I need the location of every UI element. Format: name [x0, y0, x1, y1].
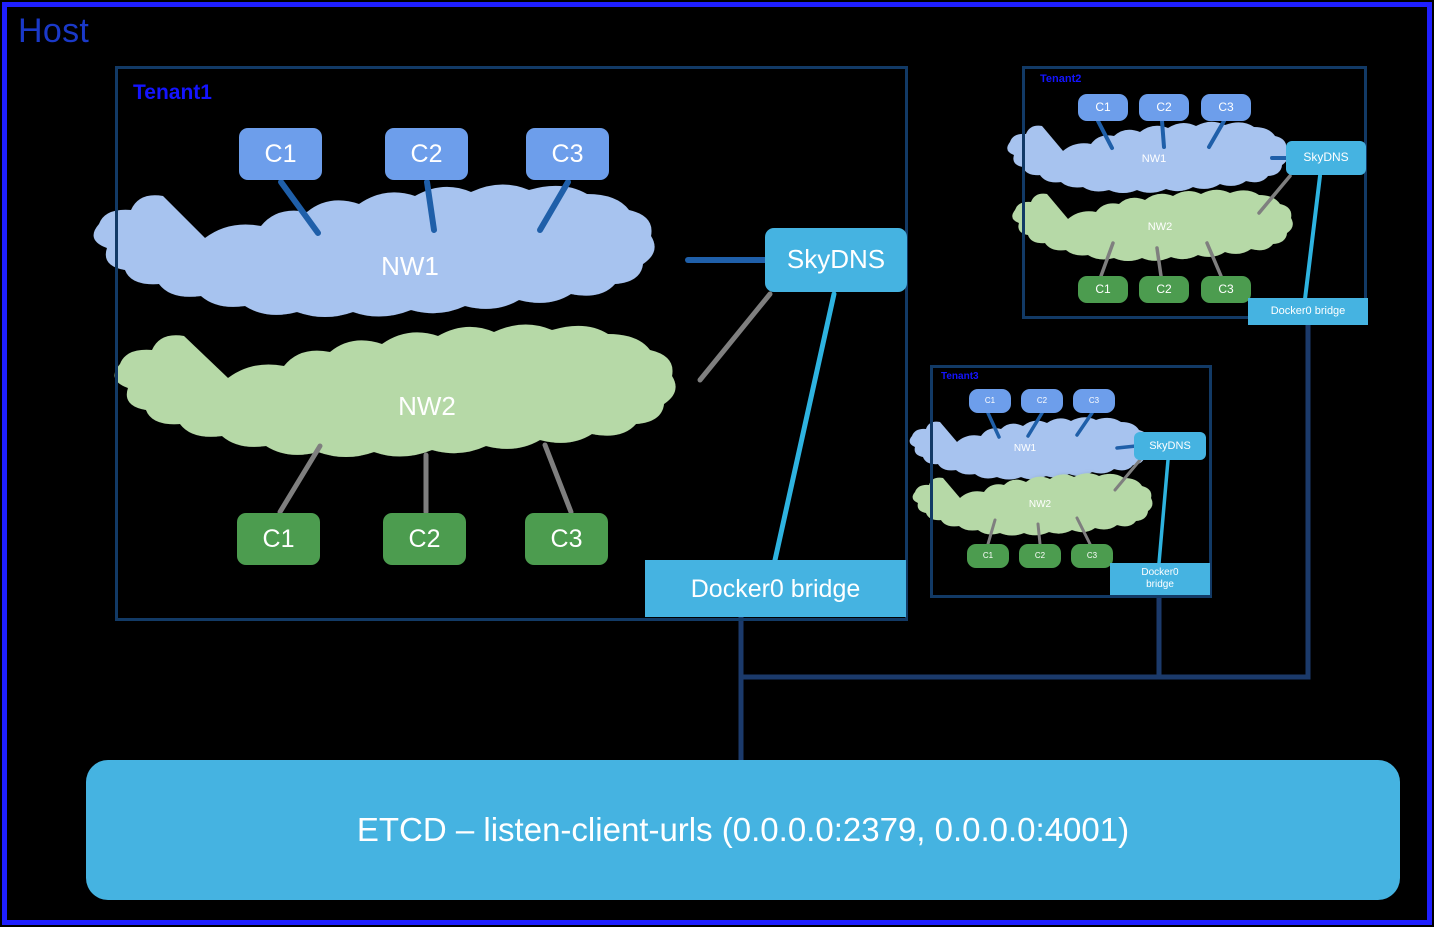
- tenant3-container-c3-top[interactable]: C3: [1073, 389, 1115, 413]
- tenant1-container-c1-bottom[interactable]: C1: [237, 513, 320, 565]
- tenant2-label: Tenant2: [1040, 73, 1081, 85]
- tenant3-docker0-line2: bridge: [1146, 579, 1174, 592]
- tenant3-docker0-line1: Docker0: [1141, 567, 1178, 580]
- tenant3-network-nw1-label: NW1: [1000, 443, 1050, 455]
- tenant3-container-c1-top[interactable]: C1: [969, 389, 1011, 413]
- tenant2-docker0-bridge[interactable]: Docker0 bridge: [1248, 298, 1368, 325]
- tenant2-network-nw1-label: NW1: [1124, 152, 1184, 166]
- tenant2-container-c3-top[interactable]: C3: [1201, 94, 1251, 121]
- tenant3-container-c3-bottom[interactable]: C3: [1071, 544, 1113, 568]
- tenant1-skydns-node[interactable]: SkyDNS: [765, 228, 907, 292]
- tenant1-container-c1-top[interactable]: C1: [239, 128, 322, 180]
- tenant2-container-c1-top[interactable]: C1: [1078, 94, 1128, 121]
- tenant3-label: Tenant3: [941, 371, 979, 382]
- tenant3-container-c1-bottom[interactable]: C1: [967, 544, 1009, 568]
- etcd-node[interactable]: ETCD – listen-client-urls (0.0.0.0:2379,…: [86, 760, 1400, 900]
- tenant2-frame[interactable]: [1022, 66, 1367, 319]
- tenant2-container-c1-bottom[interactable]: C1: [1078, 276, 1128, 303]
- tenant3-docker0-bridge[interactable]: Docker0 bridge: [1110, 563, 1210, 595]
- tenant1-network-nw1-label: NW1: [330, 252, 490, 282]
- tenant1-frame[interactable]: [115, 66, 908, 621]
- tenant1-docker0-bridge[interactable]: Docker0 bridge: [645, 560, 906, 617]
- tenant1-label: Tenant1: [133, 81, 212, 105]
- tenant2-container-c3-bottom[interactable]: C3: [1201, 276, 1251, 303]
- tenant2-container-c2-bottom[interactable]: C2: [1139, 276, 1189, 303]
- tenant3-skydns-node[interactable]: SkyDNS: [1134, 432, 1206, 460]
- tenant3-container-c2-bottom[interactable]: C2: [1019, 544, 1061, 568]
- diagram-canvas: Host Tenant1 C1 C2 C3 NW1 NW2 C1 C2 C3 S…: [0, 0, 1434, 927]
- tenant1-container-c2-bottom[interactable]: C2: [383, 513, 466, 565]
- tenant1-container-c2-top[interactable]: C2: [385, 128, 468, 180]
- tenant2-skydns-node[interactable]: SkyDNS: [1286, 141, 1366, 175]
- tenant1-container-c3-bottom[interactable]: C3: [525, 513, 608, 565]
- tenant1-container-c3-top[interactable]: C3: [526, 128, 609, 180]
- tenant3-network-nw2-label: NW2: [1015, 499, 1065, 511]
- tenant3-container-c2-top[interactable]: C2: [1021, 389, 1063, 413]
- tenant2-network-nw2-label: NW2: [1130, 220, 1190, 234]
- tenant1-network-nw2-label: NW2: [347, 392, 507, 422]
- host-title: Host: [18, 12, 89, 51]
- tenant2-container-c2-top[interactable]: C2: [1139, 94, 1189, 121]
